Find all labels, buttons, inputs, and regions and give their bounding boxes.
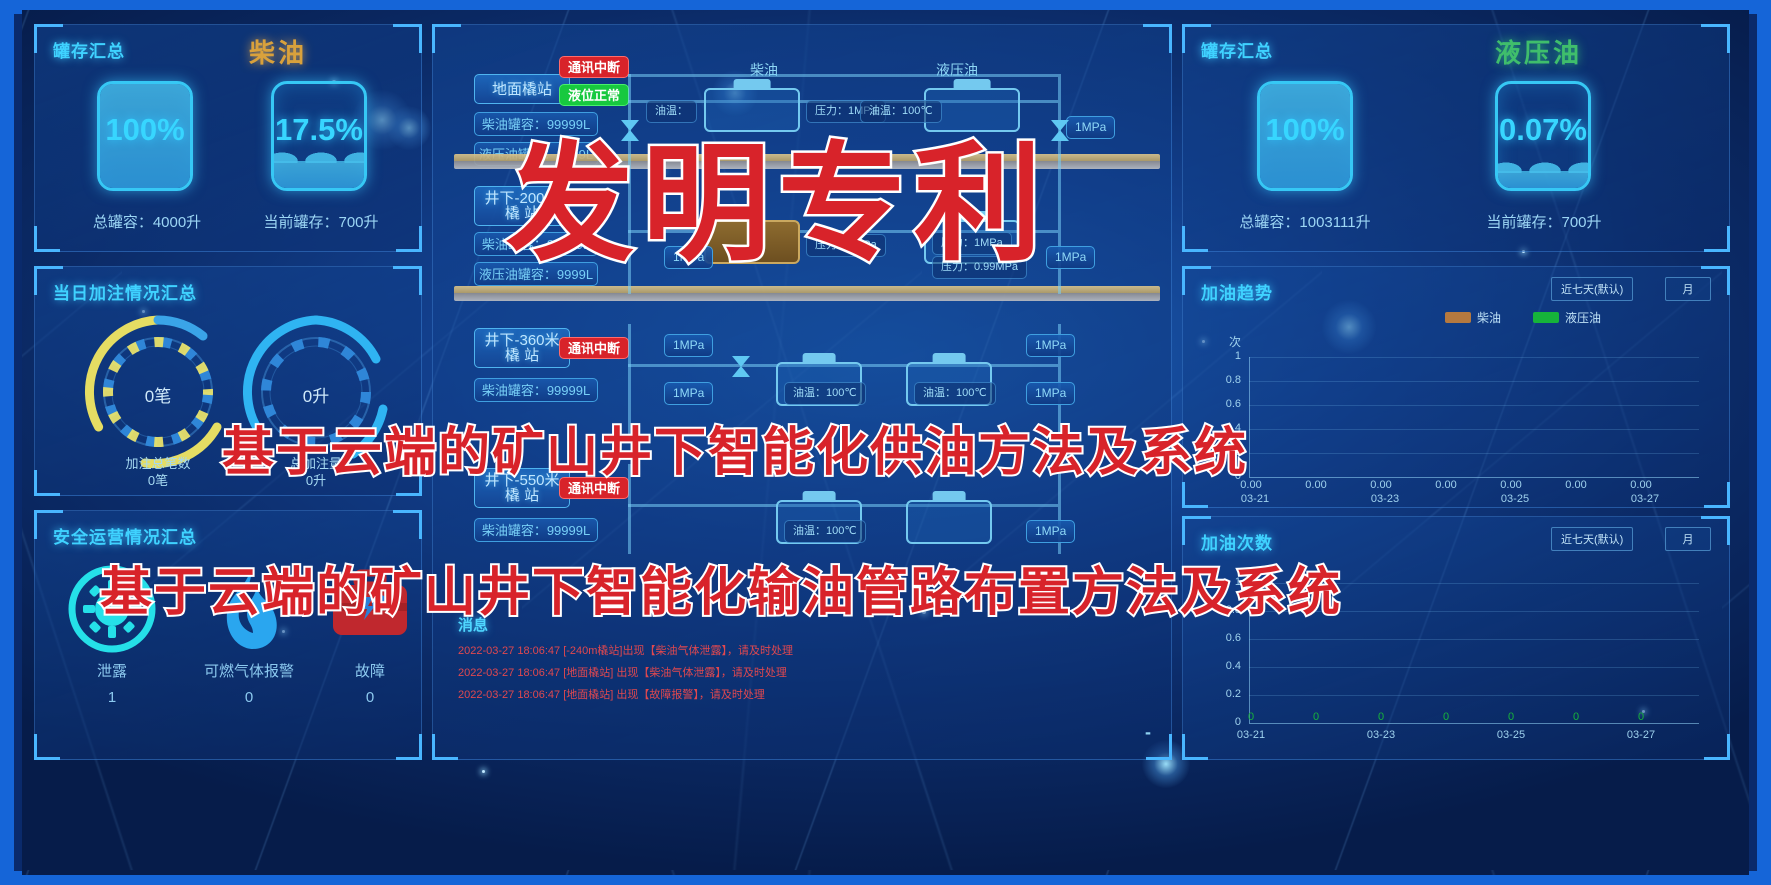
- chart-x-axis: [1249, 477, 1699, 478]
- total-capacity-label: 总罐容：4000升: [63, 211, 231, 232]
- tank-wave: [1495, 157, 1591, 173]
- tank-graphic-minus550-hydraulic: [906, 500, 992, 544]
- chart-gridline: [1249, 429, 1699, 430]
- tank-capacity-minus550-diesel: 柴油罐容：99999L: [474, 518, 598, 542]
- column-header-hydraulic: 液压油: [936, 60, 978, 80]
- chart-gridline: [1249, 667, 1699, 668]
- chart-ytick: 0.4: [1215, 660, 1241, 672]
- total-capacity-label: 总罐容：1003111升: [1201, 211, 1409, 232]
- panel-title-diesel-stock: 罐存汇总: [53, 37, 125, 62]
- range-button-week-count[interactable]: 近七天(默认): [1551, 527, 1633, 551]
- sensor-tag-oil-temp-5: 油温：100℃: [784, 520, 866, 543]
- panel-hydraulic-stock: 罐存汇总 液压油 100% 总罐容：1003111升 0.07% 当前罐存：70…: [1182, 24, 1730, 252]
- chart-gridline: [1249, 405, 1699, 406]
- watermark-title: 发明专利: [506, 100, 1050, 285]
- station-label-minus360[interactable]: 井下-360米 橇 站: [474, 328, 570, 368]
- sensor-tag-oil-temp-3: 油温：100℃: [784, 382, 866, 405]
- tank-gauge-diesel-current: 17.5%: [271, 81, 367, 191]
- panel-title-hydraulic-stock: 罐存汇总: [1201, 37, 1273, 62]
- chart-point-label: 0.00: [1495, 479, 1527, 491]
- range-button-week-trend[interactable]: 近七天(默认): [1551, 277, 1633, 301]
- chart-point-label: 0.00: [1625, 479, 1657, 491]
- chart-point-label: 0.00: [1365, 479, 1397, 491]
- panel-title-safety-summary: 安全运营情况汇总: [53, 523, 197, 548]
- safety-label-gas-alarm: 可燃气体报警: [185, 660, 313, 681]
- chart-point-label: 0.00: [1560, 479, 1592, 491]
- pressure-tag-8: 1MPa: [1026, 520, 1075, 543]
- tank-capacity-minus360-diesel: 柴油罐容：99999L: [474, 378, 598, 402]
- legend-diesel-trend[interactable]: 柴油: [1445, 309, 1501, 326]
- chart-ytick: 0: [1215, 716, 1241, 728]
- panel-diesel-stock: 罐存汇总 柴油 100% 总罐容：4000升 17.5% 当前罐存：700升: [34, 24, 422, 252]
- safety-value-leak: 1: [57, 689, 167, 706]
- ring-value-refuel-count: 0笔: [75, 382, 241, 407]
- screenshot-root: 罐存汇总 柴油 100% 总罐容：4000升 17.5% 当前罐存：700升 当…: [0, 0, 1771, 885]
- pressure-tag-6: 1MPa: [664, 382, 713, 405]
- pipe-segment: [1058, 194, 1061, 294]
- chart-xtick: 03-21: [1235, 493, 1275, 505]
- pressure-tag-1: 1MPa: [1066, 116, 1115, 139]
- tank-percent-label: 100%: [100, 112, 190, 148]
- panel-safety-summary: 安全运营情况汇总: [34, 510, 422, 760]
- safety-label-leak: 泄露: [57, 660, 167, 681]
- safety-value-gas-alarm: 0: [185, 689, 313, 706]
- chart-xtick: 03-25: [1495, 493, 1535, 505]
- pressure-tag-5: 1MPa: [1026, 334, 1075, 357]
- panel-title-refuel-trend: 加油趋势: [1201, 279, 1273, 304]
- chart-xtick: 03-23: [1361, 729, 1401, 741]
- chart-point-label: 0: [1371, 711, 1391, 723]
- level-indicator-2: [454, 286, 1160, 301]
- product-label-diesel: 柴油: [249, 33, 307, 70]
- chart-xtick: 03-27: [1625, 493, 1665, 505]
- legend-label-diesel: 柴油: [1477, 309, 1501, 326]
- dashboard-stage: 罐存汇总 柴油 100% 总罐容：4000升 17.5% 当前罐存：700升 当…: [22, 10, 1749, 875]
- status-badge-ground-comm: 通讯中断: [559, 56, 629, 78]
- chart-x-axis: [1249, 723, 1699, 724]
- current-stock-label: 当前罐存：700升: [1451, 211, 1637, 232]
- chart-ylabel-trend: 次: [1229, 333, 1241, 350]
- message-row: 2022-03-27 18:06:47 [地面橇站] 出现【故障报警】，请及时处…: [458, 686, 765, 702]
- chart-ytick: 0.8: [1215, 374, 1241, 386]
- tank-percent-label: 17.5%: [274, 112, 364, 148]
- range-button-month-trend[interactable]: 月: [1665, 277, 1711, 301]
- status-badge-minus360-comm: 通讯中断: [559, 337, 629, 359]
- tank-percent-label: 100%: [1260, 112, 1350, 148]
- chart-point-label: 0: [1631, 711, 1651, 723]
- chart-point-label: 0: [1241, 711, 1261, 723]
- chart-refuel-trend: 次 1 0.8 0.6 0.4 0.2 0 0.00 0.00 0.00 0.0…: [1201, 333, 1713, 503]
- chart-gridline: [1249, 639, 1699, 640]
- column-header-diesel: 柴油: [750, 60, 778, 80]
- pressure-tag-3: 1MPa: [1046, 246, 1095, 269]
- chart-point-label: 0: [1436, 711, 1456, 723]
- chart-xtick: 03-25: [1491, 729, 1531, 741]
- panel-title-daily-refuel: 当日加注情况汇总: [53, 279, 197, 304]
- chart-ytick: 0.6: [1215, 632, 1241, 644]
- ring-caption-line2: 0笔: [148, 473, 168, 488]
- chart-point-label: 0: [1566, 711, 1586, 723]
- ring-caption-refuel-count: 加注总笔数 0笔: [75, 455, 241, 489]
- current-stock-label: 当前罐存：700升: [233, 211, 409, 232]
- chart-point-label: 0.00: [1300, 479, 1332, 491]
- safety-value-fault: 0: [325, 689, 415, 706]
- chart-xtick: 03-21: [1231, 729, 1271, 741]
- legend-swatch-diesel: [1445, 312, 1471, 323]
- message-row: 2022-03-27 18:06:47 [-240m橇站]出现【柴油气体泄露】，…: [458, 642, 793, 658]
- pipe-segment: [628, 74, 1058, 77]
- message-log: 消息 2022-03-27 18:06:47 [-240m橇站]出现【柴油气体泄…: [452, 614, 1152, 734]
- watermark-line-1: 基于云端的矿山井下智能化供油方法及系统: [222, 410, 1248, 485]
- chart-y-axis: [1249, 357, 1250, 477]
- legend-swatch-hydraulic: [1533, 312, 1559, 323]
- range-button-month-count[interactable]: 月: [1665, 527, 1711, 551]
- tank-gauge-hydraulic-current: 0.07%: [1495, 81, 1591, 191]
- valve-icon[interactable]: [1051, 130, 1069, 141]
- message-row: 2022-03-27 18:06:47 [地面橇站] 出现【柴油气体泄露】，请及…: [458, 664, 787, 680]
- chart-ytick: 0.6: [1215, 398, 1241, 410]
- sensor-tag-oil-temp-4: 油温：100℃: [914, 382, 996, 405]
- ring-value-refuel-volume: 0升: [233, 382, 399, 407]
- chart-point-label: 0: [1306, 711, 1326, 723]
- chart-point-label: 0: [1501, 711, 1521, 723]
- safety-label-fault: 故障: [325, 660, 415, 681]
- chart-xtick: 03-23: [1365, 493, 1405, 505]
- chart-point-label: 0.00: [1430, 479, 1462, 491]
- tank-gauge-hydraulic-total: 100%: [1257, 81, 1353, 191]
- pressure-tag-4: 1MPa: [664, 334, 713, 357]
- panel-refuel-trend: 加油趋势 近七天(默认) 月 柴油 液压油 次 1 0: [1182, 266, 1730, 508]
- watermark-line-2: 基于云端的矿山井下智能化输油管路布置方法及系统: [100, 550, 1342, 625]
- tank-percent-label: 0.07%: [1498, 112, 1588, 148]
- chart-gridline: [1249, 381, 1699, 382]
- legend-hydraulic-trend[interactable]: 液压油: [1533, 309, 1601, 326]
- chart-ytick: 0.2: [1215, 688, 1241, 700]
- legend-label-hydraulic: 液压油: [1565, 309, 1601, 326]
- chart-ytick: 1: [1215, 350, 1241, 362]
- valve-icon[interactable]: [732, 366, 750, 377]
- tank-fill: [1498, 171, 1588, 188]
- product-label-hydraulic: 液压油: [1495, 33, 1582, 70]
- pressure-tag-7: 1MPa: [1026, 382, 1075, 405]
- station-name-line1: 井下-360米: [484, 333, 559, 348]
- chart-gridline: [1249, 357, 1699, 358]
- ring-caption-line1: 加注总笔数: [125, 456, 190, 471]
- chart-xtick: 03-27: [1621, 729, 1661, 741]
- station-name-line2: 橇 站: [505, 488, 539, 503]
- tank-wave: [271, 147, 367, 163]
- tank-fill: [274, 161, 364, 188]
- station-name-line2: 橇 站: [505, 348, 539, 363]
- tank-gauge-diesel-total: 100%: [97, 81, 193, 191]
- chart-gridline: [1249, 695, 1699, 696]
- chart-gridline: [1249, 453, 1699, 454]
